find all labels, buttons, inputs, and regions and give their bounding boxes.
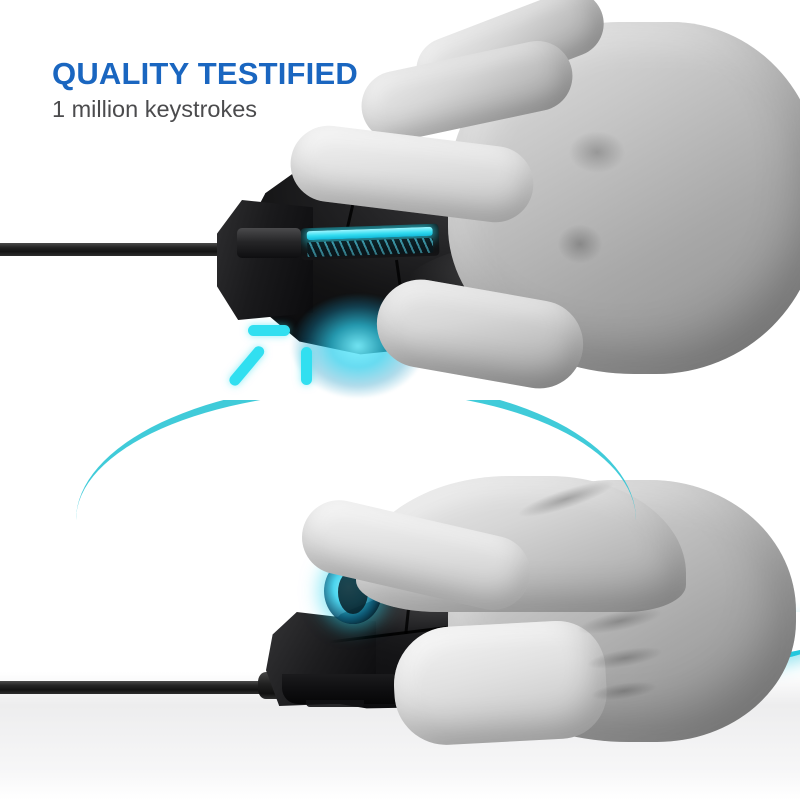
knuckle-shadow-lower — [548, 216, 612, 272]
click-stroke-1 — [248, 325, 290, 336]
knuckle-shadow-upper — [558, 126, 636, 184]
panel-1-headline: QUALITY TESTIFIED — [52, 58, 358, 91]
click-stroke-3 — [301, 347, 312, 385]
mouse-usb-connector — [237, 228, 301, 258]
panel-1-subhead: 1 million keystrokes — [52, 96, 358, 124]
panel-ergonomic-design: ERGONOMIC DESIGN Comfortable and reduce … — [0, 400, 800, 800]
product-feature-image: QUALITY TESTIFIED 1 million keystrokes — [0, 0, 800, 800]
panel-1-text-block: QUALITY TESTIFIED 1 million keystrokes — [52, 58, 358, 124]
mouse-cable — [0, 681, 290, 694]
panel-quality-testified: QUALITY TESTIFIED 1 million keystrokes — [0, 0, 800, 400]
rgb-light-strip-arc — [76, 400, 636, 520]
hand-top-view — [352, 8, 800, 400]
click-indicator-strokes — [248, 322, 338, 396]
